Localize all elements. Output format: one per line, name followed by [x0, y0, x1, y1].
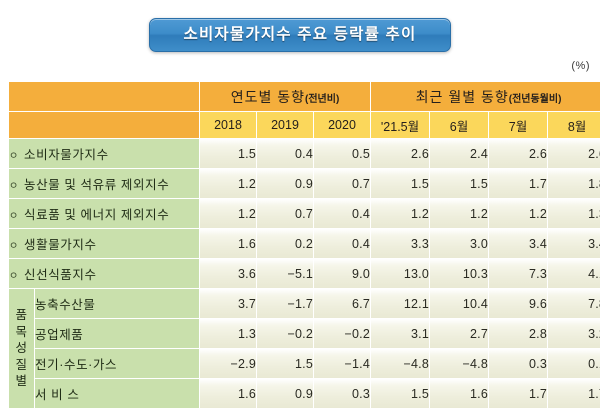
data-cell: −0.2 [257, 319, 313, 348]
table-row: ㅇ소비자물가지수1.50.40.52.62.42.62.6 [9, 139, 600, 168]
bullet-icon: ㅇ [9, 207, 24, 222]
data-cell: 0.9 [257, 169, 313, 198]
row-label: ㅇ생활물가지수 [9, 229, 199, 258]
header-group-month-label: 최근 월별 동향 [416, 89, 509, 105]
row-label: 농축수산물 [35, 289, 199, 318]
row-label: 전기·수도·가스 [35, 349, 199, 378]
header-group-row: 연도별 동향(전년비) 최근 월별 동향(전년동월비) [9, 82, 600, 111]
header-group-year-label: 연도별 동향 [231, 89, 305, 105]
data-cell: 1.6 [430, 379, 488, 408]
data-cell: 13.0 [371, 259, 429, 288]
header-corner [9, 82, 199, 111]
data-cell: 3.4 [489, 229, 547, 258]
data-cell: 0.7 [314, 169, 370, 198]
data-cell: 1.7 [489, 379, 547, 408]
data-cell: 0.5 [314, 139, 370, 168]
data-cell: 10.4 [430, 289, 488, 318]
bullet-icon: ㅇ [9, 147, 24, 162]
row-label: ㅇ소비자물가지수 [9, 139, 199, 168]
data-cell: 0.4 [314, 229, 370, 258]
data-cell: 2.4 [430, 139, 488, 168]
data-cell: −1.4 [314, 349, 370, 378]
data-cell: 3.7 [200, 289, 256, 318]
data-cell: 0.3 [314, 379, 370, 408]
table-row: 전기·수도·가스−2.91.5−1.4−4.8−4.80.30.1 [9, 349, 600, 378]
data-cell: 2.6 [548, 139, 600, 168]
data-cell: 9.6 [489, 289, 547, 318]
column-header-2019: 2019 [257, 112, 313, 138]
data-cell: 1.6 [200, 379, 256, 408]
data-cell: 1.7 [548, 379, 600, 408]
data-cell: 4.1 [548, 259, 600, 288]
data-cell: 0.4 [314, 199, 370, 228]
data-cell: 0.4 [257, 139, 313, 168]
data-cell: −1.7 [257, 289, 313, 318]
data-cell: 3.1 [371, 319, 429, 348]
data-cell: 1.2 [430, 199, 488, 228]
data-cell: 2.6 [489, 139, 547, 168]
row-label-text: 생활물가지수 [24, 238, 97, 252]
data-cell: 0.3 [489, 349, 547, 378]
data-cell: 1.3 [200, 319, 256, 348]
data-cell: −0.2 [314, 319, 370, 348]
table-row: 공업제품1.3−0.2−0.23.12.72.83.2 [9, 319, 600, 348]
data-cell: 6.7 [314, 289, 370, 318]
vertical-group-label: 품목성질별 [9, 289, 34, 408]
data-cell: −5.1 [257, 259, 313, 288]
column-header-2018: 2018 [200, 112, 256, 138]
data-cell: 1.2 [200, 199, 256, 228]
data-cell: 3.2 [548, 319, 600, 348]
row-label-text: 농산물 및 석유류 제외지수 [24, 178, 169, 192]
data-cell: −2.9 [200, 349, 256, 378]
data-cell: 1.8 [548, 169, 600, 198]
data-cell: 2.8 [489, 319, 547, 348]
row-label: 서 비 스 [35, 379, 199, 408]
data-cell: 0.7 [257, 199, 313, 228]
row-label: 공업제품 [35, 319, 199, 348]
table-row: ㅇ식료품 및 에너지 제외지수1.20.70.41.21.21.21.3 [9, 199, 600, 228]
data-cell: 1.5 [371, 379, 429, 408]
data-cell: 1.7 [489, 169, 547, 198]
row-label-text: 신선식품지수 [24, 268, 97, 282]
table-row: 품목성질별농축수산물3.7−1.76.712.110.49.67.8 [9, 289, 600, 318]
column-header-2021-06: 6월 [430, 112, 488, 138]
data-cell: 10.3 [430, 259, 488, 288]
row-label-text: 소비자물가지수 [24, 148, 109, 162]
data-cell: 0.1 [548, 349, 600, 378]
row-label: ㅇ농산물 및 석유류 제외지수 [9, 169, 199, 198]
column-header-2021-05: '21.5월 [371, 112, 429, 138]
table-row: ㅇ농산물 및 석유류 제외지수1.20.90.71.51.51.71.8 [9, 169, 600, 198]
data-cell: 3.3 [371, 229, 429, 258]
column-header-2020: 2020 [314, 112, 370, 138]
bullet-icon: ㅇ [9, 177, 24, 192]
unit-note: (%) [571, 60, 590, 72]
data-cell: 0.9 [257, 379, 313, 408]
data-cell: 1.2 [371, 199, 429, 228]
header-period-row: 2018 2019 2020 '21.5월 6월 7월 8월 [9, 112, 600, 138]
bullet-icon: ㅇ [9, 267, 24, 282]
data-cell: 0.2 [257, 229, 313, 258]
table-header: 연도별 동향(전년비) 최근 월별 동향(전년동월비) 2018 2019 20… [9, 82, 600, 138]
data-cell: 1.6 [200, 229, 256, 258]
data-cell: 1.2 [489, 199, 547, 228]
bullet-icon: ㅇ [9, 237, 24, 252]
data-cell: 3.4 [548, 229, 600, 258]
table-row: 서 비 스1.60.90.31.51.61.71.7 [9, 379, 600, 408]
column-header-2021-07: 7월 [489, 112, 547, 138]
data-cell: −4.8 [430, 349, 488, 378]
header-group-month-sub: (전년동월비) [509, 94, 562, 105]
data-cell: −4.8 [371, 349, 429, 378]
data-cell: 2.7 [430, 319, 488, 348]
data-cell: 7.8 [548, 289, 600, 318]
header-corner-lower [9, 112, 199, 138]
table-body: ㅇ소비자물가지수1.50.40.52.62.42.62.6ㅇ농산물 및 석유류 … [9, 139, 600, 408]
title-banner: 소비자물가지수 주요 등락률 추이 [0, 18, 600, 52]
data-cell: 3.6 [200, 259, 256, 288]
table-row: ㅇ생활물가지수1.60.20.43.33.03.43.4 [9, 229, 600, 258]
data-cell: 1.5 [257, 349, 313, 378]
data-cell: 2.6 [371, 139, 429, 168]
header-group-year-sub: (전년비) [305, 94, 339, 105]
cpi-table: 연도별 동향(전년비) 최근 월별 동향(전년동월비) 2018 2019 20… [8, 81, 600, 409]
column-header-2021-08: 8월 [548, 112, 600, 138]
data-cell: 1.5 [371, 169, 429, 198]
data-cell: 12.1 [371, 289, 429, 318]
row-label-text: 식료품 및 에너지 제외지수 [24, 208, 169, 222]
data-cell: 1.5 [200, 139, 256, 168]
data-cell: 1.5 [430, 169, 488, 198]
data-cell: 7.3 [489, 259, 547, 288]
page-title: 소비자물가지수 주요 등락률 추이 [149, 18, 452, 52]
row-label: ㅇ신선식품지수 [9, 259, 199, 288]
row-label: ㅇ식료품 및 에너지 제외지수 [9, 199, 199, 228]
data-cell: 1.2 [200, 169, 256, 198]
data-cell: 3.0 [430, 229, 488, 258]
header-group-month: 최근 월별 동향(전년동월비) [371, 82, 600, 111]
header-group-year: 연도별 동향(전년비) [200, 82, 370, 111]
table-row: ㅇ신선식품지수3.6−5.19.013.010.37.34.1 [9, 259, 600, 288]
data-cell: 9.0 [314, 259, 370, 288]
data-cell: 1.3 [548, 199, 600, 228]
